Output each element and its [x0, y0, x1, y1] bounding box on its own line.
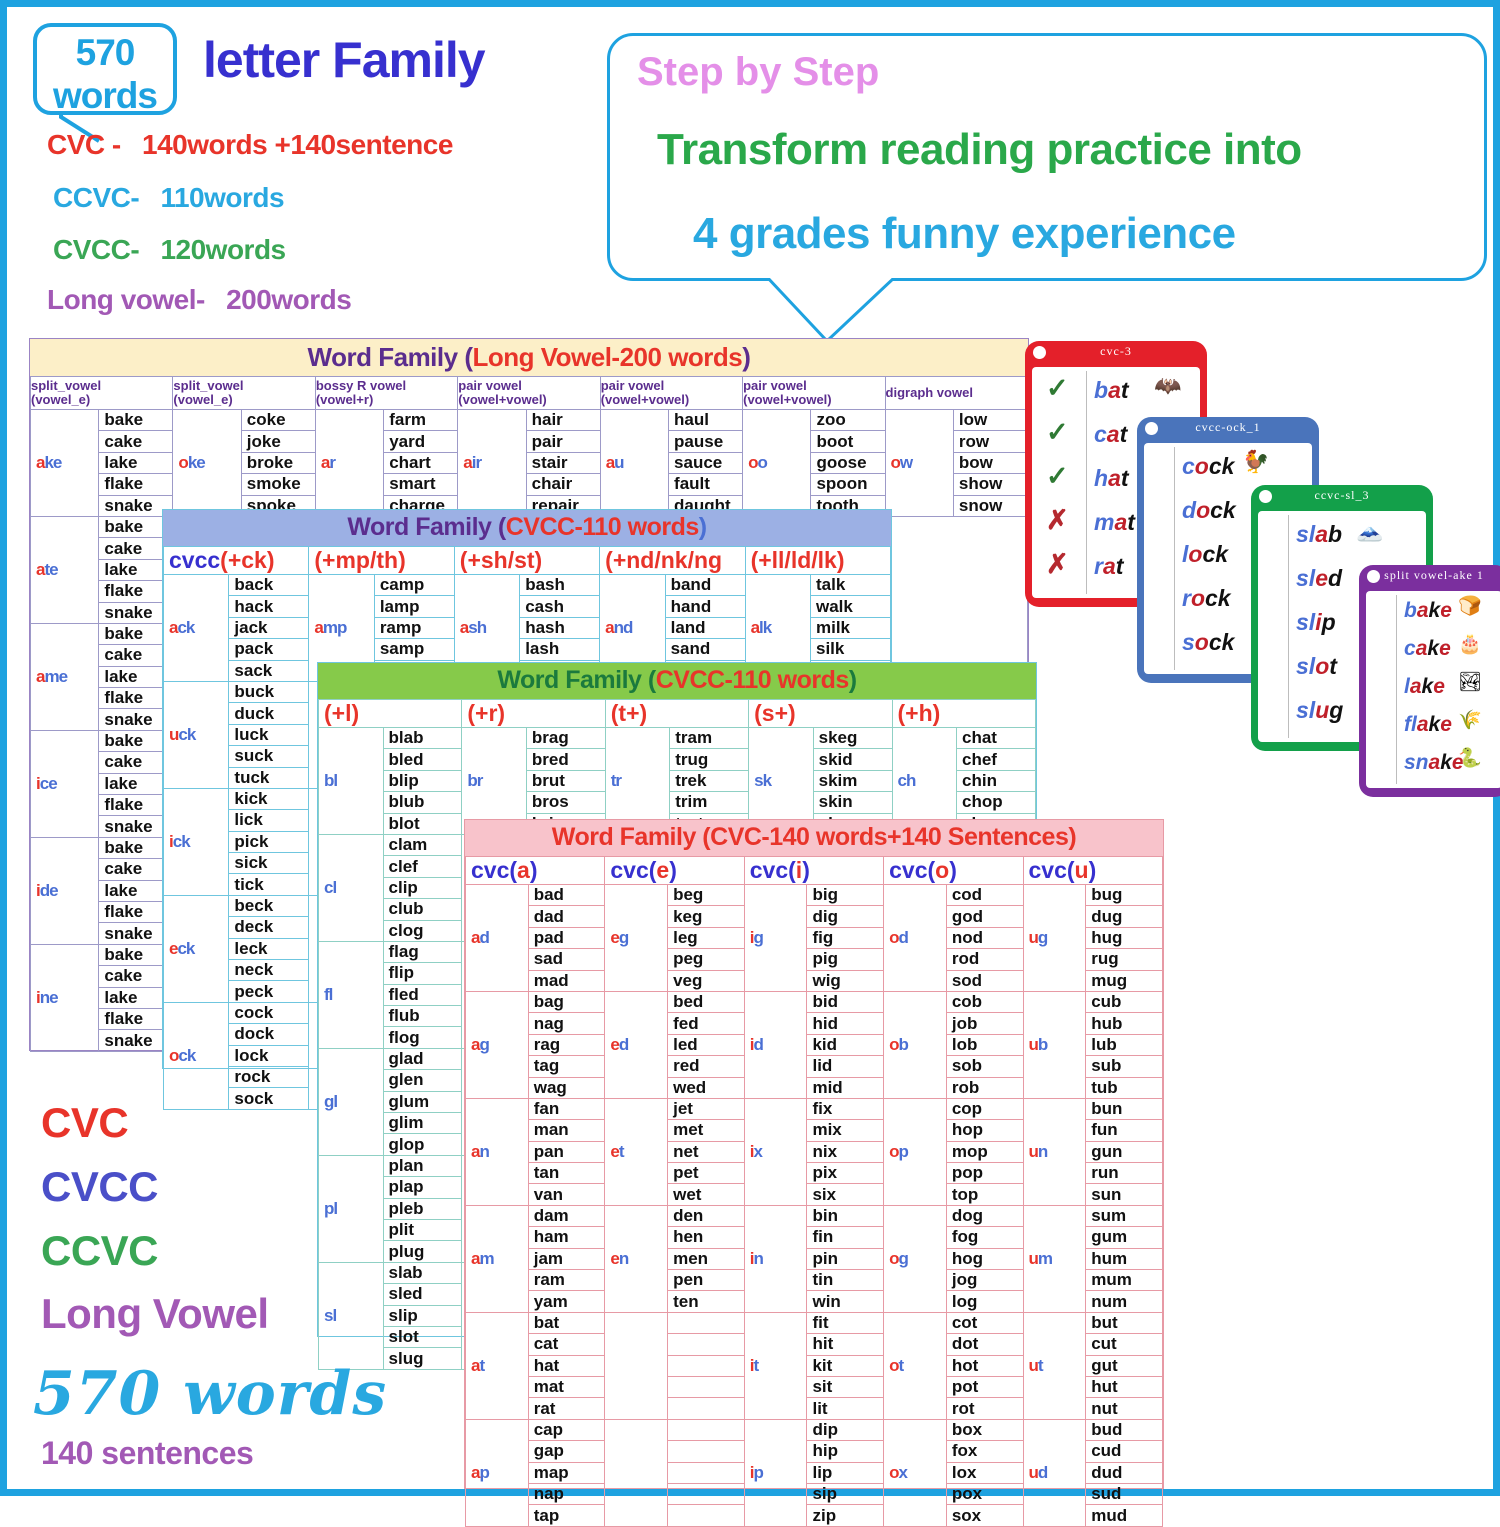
- cvc-grid-word-0-0-4: mad: [528, 970, 605, 991]
- cvc-grid-key-4-5: ud: [1023, 1419, 1086, 1526]
- cvc-grid-word-1-3-2: men: [668, 1248, 745, 1269]
- cvc-grid-word-1-5-4: [668, 1505, 745, 1526]
- cvc-grid-word-2-0-4: wig: [807, 970, 884, 991]
- ccvc-grid-word-0-1-2: clip: [383, 877, 462, 898]
- cvc-grid-word-0-2-2: pan: [528, 1141, 605, 1162]
- cvcc-grid-key-0-2: ick: [164, 788, 229, 895]
- cvc-grid-word-3-2-1: hop: [946, 1120, 1023, 1141]
- cvc-grid-word-1-5-0: [668, 1419, 745, 1440]
- lv-word-col7-4: snow: [953, 495, 1027, 516]
- spec-cvc: CVC - 140words +140sentence: [47, 129, 453, 161]
- cvcc-title-b: CVCC-110 words: [506, 513, 699, 541]
- lv-word-col5-2: sauce: [669, 452, 743, 473]
- cvcc-grid-key-0-1: uck: [164, 681, 229, 788]
- badge-line1: 570: [37, 31, 173, 74]
- spec-cvcc-value: 120words: [160, 234, 285, 265]
- cvc-grid-word-0-5-1: gap: [528, 1441, 605, 1462]
- ccvc-grid-word-3-0-0: skeg: [813, 728, 892, 749]
- cvc-grid-word-2-2-3: pix: [807, 1163, 884, 1184]
- lv-word-col6-1: boot: [811, 431, 885, 452]
- flashcard-split-vowel-ake-1[interactable]: split vowel-ake 1 bake🍞cake🎂lake🏞flake🌾s…: [1359, 565, 1500, 797]
- cvc-grid-key-0-5: ap: [466, 1419, 529, 1526]
- cvcc-grid-word-0-2-2: pick: [229, 831, 309, 852]
- ccvc-grid-word-2-0-3: trim: [670, 792, 749, 813]
- cvc-grid-word-2-2-4: six: [807, 1184, 884, 1205]
- cvc-grid-key-0-1: ag: [466, 991, 529, 1098]
- flashcard-check-mark-icon: ✗: [1046, 549, 1069, 580]
- lv-word-col2-1: joke: [241, 431, 315, 452]
- cvc-grid-word-1-1-1: fed: [668, 1013, 745, 1034]
- table-row: apcapipdipoxboxudbud: [466, 1419, 1163, 1440]
- cvc-grid-word-3-0-2: nod: [946, 927, 1023, 948]
- cvc-grid-word-1-4-1: [668, 1334, 745, 1355]
- cvc-grid-word-4-3-1: gum: [1086, 1227, 1163, 1248]
- table-row: agbagedbedidbidobcobubcub: [466, 991, 1163, 1012]
- cvc-grid-word-2-3-1: fin: [807, 1227, 884, 1248]
- lv-word-col1-0-2: lake: [99, 452, 173, 473]
- bubble-line-2: 4 grades funny experience: [693, 209, 1236, 259]
- lv-key-col1-3: ice: [31, 730, 99, 837]
- cvc-grid-word-4-2-2: gun: [1086, 1141, 1163, 1162]
- cvc-grid-word-3-5-0: box: [946, 1419, 1023, 1440]
- ccvc-grid-key-0-2: fl: [319, 941, 384, 1048]
- cvc-grid-word-1-2-1: met: [668, 1120, 745, 1141]
- cvcc-grid-word-3-0-2: land: [665, 617, 745, 638]
- flashcard-word-row: flake: [1404, 713, 1452, 737]
- lv-word-col4-1: pair: [526, 431, 600, 452]
- cvc-grid-word-1-0-0: beg: [668, 885, 745, 906]
- ccvc-grid-word-4-0-3: chop: [957, 792, 1036, 813]
- cvc-grid-word-2-4-3: sit: [807, 1376, 884, 1397]
- legend-ccvc: CCVC: [41, 1227, 158, 1275]
- lv-word-col2-0: coke: [241, 410, 315, 431]
- cvc-grid-word-2-5-4: zip: [807, 1505, 884, 1526]
- cvcc-grid-word-2-0-1: cash: [520, 596, 600, 617]
- cvc-grid-word-0-4-2: hat: [528, 1355, 605, 1376]
- ccvc-grid-header-1: (+r): [462, 700, 605, 728]
- ccvc-grid-word-0-3-2: glum: [383, 1091, 462, 1112]
- cvc-grid-word-3-1-3: sob: [946, 1056, 1023, 1077]
- lv-key-col4: air: [458, 410, 526, 517]
- cvc-title-a: Word Family (: [552, 823, 710, 851]
- flashcard-word-row: rat: [1094, 553, 1123, 580]
- cvc-grid-word-4-4-1: cut: [1086, 1334, 1163, 1355]
- cvcc-grid-word-2-0-0: bash: [520, 575, 600, 596]
- cvc-grid-word-4-5-1: cud: [1086, 1441, 1163, 1462]
- cvc-grid-key-0-4: at: [466, 1312, 529, 1419]
- flashcard-2-caption: cvcc-ock_1: [1137, 420, 1319, 435]
- cvc-grid-word-3-4-2: hot: [946, 1355, 1023, 1376]
- badge-line2: words: [37, 74, 173, 117]
- spec-long-vowel-key: Long vowel-: [47, 284, 205, 316]
- cvc-grid-word-0-4-3: mat: [528, 1376, 605, 1397]
- spec-ccvc-key: CCVC-: [53, 182, 139, 214]
- cvc-grid-word-1-4-2: [668, 1355, 745, 1376]
- lv-word-col4-0: hair: [526, 410, 600, 431]
- flashcard-divider: [1396, 595, 1397, 784]
- badge-570-words: 570 words: [33, 23, 177, 115]
- cvc-grid-word-3-5-1: fox: [946, 1441, 1023, 1462]
- flashcard-3-caption: ccvc-sl_3: [1251, 488, 1433, 503]
- cvc-grid-word-0-4-1: cat: [528, 1334, 605, 1355]
- lv-word-col1-0-0: bake: [99, 410, 173, 431]
- cvc-grid-word-3-4-0: cot: [946, 1312, 1023, 1333]
- cvc-grid-key-3-2: op: [884, 1098, 947, 1205]
- cvc-grid-word-0-5-4: tap: [528, 1505, 605, 1526]
- cvc-grid-word-1-5-3: [668, 1483, 745, 1504]
- cvc-grid-word-0-3-1: ham: [528, 1227, 605, 1248]
- table-ccvc-green-title: Word Family (CVCC-110 words): [318, 663, 1036, 699]
- cvcc-grid-word-0-4-0: cock: [229, 1002, 309, 1023]
- cvc-grid-word-3-3-1: fog: [946, 1227, 1023, 1248]
- cvcc-grid-word-0-4-3: rock: [229, 1066, 309, 1087]
- ccvc-grid-word-0-1-0: clam: [383, 834, 462, 855]
- cvc-grid-word-3-2-3: pop: [946, 1163, 1023, 1184]
- cvcc-grid-word-0-2-3: sick: [229, 853, 309, 874]
- lv-word-col1-0-3: flake: [99, 474, 173, 495]
- callout-tail-icon: [767, 275, 897, 345]
- cvc-grid-word-0-3-0: dam: [528, 1205, 605, 1226]
- cvc-grid-header-4: cvc(u): [1023, 857, 1163, 885]
- flashcard-word-row: slug: [1296, 697, 1343, 724]
- cvcc-grid-word-0-0-0: back: [229, 575, 309, 596]
- cvcc-grid-header-0: cvcc(+ck): [164, 547, 309, 575]
- cvc-grid-word-4-3-3: mum: [1086, 1270, 1163, 1291]
- ccvc-grid-word-1-0-2: brut: [526, 770, 605, 791]
- cvcc-grid-word-4-0-0: talk: [810, 575, 890, 596]
- cvc-grid-key-4-1: ub: [1023, 991, 1086, 1098]
- cvc-grid-word-3-1-2: lob: [946, 1034, 1023, 1055]
- ccvc-grid-word-0-5-0: slab: [383, 1262, 462, 1283]
- cvc-grid-word-4-5-3: sud: [1086, 1483, 1163, 1504]
- cvcc-grid-word-0-1-4: tuck: [229, 767, 309, 788]
- cvcc-grid-header-1: (+mp/th): [309, 547, 454, 575]
- ccvc-grid-word-0-3-4: glop: [383, 1134, 462, 1155]
- cvc-grid-key-0-2: an: [466, 1098, 529, 1205]
- cvcc-grid-word-0-0-4: sack: [229, 660, 309, 681]
- flashcard-4-body: bake🍞cake🎂lake🏞flake🌾snake🐍: [1366, 591, 1500, 788]
- lv-header-row: split_vowel(vowel_e)split_vowel(vowel_e)…: [31, 377, 1028, 410]
- cvc-grid-word-3-1-1: job: [946, 1013, 1023, 1034]
- flashcard-check-mark-icon: ✓: [1046, 373, 1069, 404]
- ccvc-grid-header-3: (s+): [749, 700, 892, 728]
- ccvc-grid-word-2-0-2: trek: [670, 770, 749, 791]
- cvc-grid-key-2-5: ip: [744, 1419, 807, 1526]
- cvcc-grid-header-2: (+sh/st): [454, 547, 599, 575]
- table-row: atbatitfitotcotutbut: [466, 1312, 1163, 1333]
- cvcc-grid-word-0-0-1: hack: [229, 596, 309, 617]
- cvc-grid-word-2-5-0: dip: [807, 1419, 884, 1440]
- spec-cvc-key: CVC -: [47, 129, 121, 161]
- ccvc-grid-word-0-4-2: pleb: [383, 1198, 462, 1219]
- cvc-grid-word-2-5-1: hip: [807, 1441, 884, 1462]
- ccvc-grid-word-0-1-3: club: [383, 899, 462, 920]
- cvcc-grid-word-0-4-2: lock: [229, 1045, 309, 1066]
- ccvc-title-a: Word Family (: [497, 666, 655, 694]
- cvc-grid-word-2-5-2: lip: [807, 1462, 884, 1483]
- lv-title-a: Word Family (: [308, 342, 473, 372]
- lv-key-col1-1: ate: [31, 516, 99, 623]
- cvc-grid-word-3-4-4: rot: [946, 1398, 1023, 1419]
- cvc-grid-header-1: cvc(e): [605, 857, 744, 885]
- cvcc-grid-word-0-4-4: sock: [229, 1088, 309, 1109]
- ccvc-grid-word-0-0-4: blot: [383, 813, 462, 834]
- cvcc-grid-word-0-1-2: luck: [229, 724, 309, 745]
- cvc-grid-key-2-0: ig: [744, 885, 807, 992]
- cvc-grid-word-2-0-2: fig: [807, 927, 884, 948]
- cvc-grid-word-0-1-0: bag: [528, 991, 605, 1012]
- cvc-grid-word-1-0-3: peg: [668, 949, 745, 970]
- cvcc-grid-word-0-2-1: lick: [229, 810, 309, 831]
- ccvc-grid-header-4: (+h): [892, 700, 1036, 728]
- cvc-grid-header-3: cvc(o): [884, 857, 1023, 885]
- cvcc-grid-word-4-0-2: milk: [810, 617, 890, 638]
- ccvc-grid-word-2-0-0: tram: [670, 728, 749, 749]
- cvc-grid-header-0: cvc(a): [466, 857, 605, 885]
- cvc-grid-word-3-0-4: sod: [946, 970, 1023, 991]
- cvcc-grid-word-0-3-1: deck: [229, 917, 309, 938]
- flashcard-picture-icon: 🐓: [1242, 451, 1269, 473]
- cvc-grid-word-2-5-3: sip: [807, 1483, 884, 1504]
- cvcc-grid-key-0-0: ack: [164, 575, 229, 682]
- cvc-grid-header-2: cvc(i): [744, 857, 883, 885]
- lv-word-col1-0-1: cake: [99, 431, 173, 452]
- cvc-grid-word-3-3-2: hog: [946, 1248, 1023, 1269]
- lv-key-col5: au: [600, 410, 668, 517]
- cvcc-grid-word-0-2-4: tick: [229, 874, 309, 895]
- cvc-grid-word-4-2-0: bun: [1086, 1098, 1163, 1119]
- ccvc-grid-word-0-3-1: glen: [383, 1070, 462, 1091]
- lv-word-col4-2: stair: [526, 452, 600, 473]
- lv-word-col3-2: chart: [384, 452, 458, 473]
- cvc-grid-word-2-1-1: hid: [807, 1013, 884, 1034]
- flashcard-word-row: lake: [1404, 675, 1445, 699]
- flashcard-word-row: hat: [1094, 465, 1129, 492]
- spec-long-vowel: Long vowel- 200words: [47, 284, 351, 316]
- cvc-grid-key-4-2: un: [1023, 1098, 1086, 1205]
- lv-key-col1-0: ake: [31, 410, 99, 517]
- flashcard-picture-icon: 🦇: [1154, 375, 1181, 397]
- cvcc-grid-word-4-0-1: walk: [810, 596, 890, 617]
- cvc-grid-word-1-4-4: [668, 1398, 745, 1419]
- cvc-grid-key-4-3: um: [1023, 1205, 1086, 1312]
- cvc-grid-word-0-2-0: fan: [528, 1098, 605, 1119]
- cvc-grid-word-0-3-2: jam: [528, 1248, 605, 1269]
- flashcard-1-titlebar: cvc-3: [1025, 341, 1207, 364]
- lv-word-col3-3: smart: [384, 474, 458, 495]
- cvc-grid-word-2-1-4: mid: [807, 1077, 884, 1098]
- ccvc-grid-word-0-2-4: flog: [383, 1027, 462, 1048]
- flashcard-2-titlebar: cvcc-ock_1: [1137, 417, 1319, 440]
- table-long-vowel-title: Word Family (Long Vowel-200 words): [30, 339, 1028, 376]
- poster-frame: 570 words letter Family CVC - 140words +…: [0, 0, 1500, 1496]
- cvc-grid-word-2-0-3: pig: [807, 949, 884, 970]
- ccvc-grid-header-2: (t+): [605, 700, 748, 728]
- cvc-grid-word-4-1-1: hub: [1086, 1013, 1163, 1034]
- flashcard-check-mark-icon: ✗: [1046, 505, 1069, 536]
- cvc-grid-word-1-1-4: wed: [668, 1077, 745, 1098]
- cvc-grid-key-0-0: ad: [466, 885, 529, 992]
- cvc-grid-header-row: cvc(a)cvc(e)cvc(i)cvc(o)cvc(u): [466, 857, 1163, 885]
- cvc-grid-word-4-1-3: sub: [1086, 1056, 1163, 1077]
- cvc-grid-key-2-1: id: [744, 991, 807, 1098]
- cvc-grid-key-1-3: en: [605, 1205, 668, 1312]
- cvc-grid-word-4-4-3: hut: [1086, 1376, 1163, 1397]
- flashcard-word-row: rock: [1182, 585, 1231, 612]
- ccvc-grid-key-0-4: pl: [319, 1155, 384, 1262]
- cvc-grid-word-2-1-3: lid: [807, 1056, 884, 1077]
- cvc-grid-word-1-1-3: red: [668, 1056, 745, 1077]
- ccvc-grid-word-0-4-1: plap: [383, 1177, 462, 1198]
- lv-header-0: split_vowel(vowel_e): [31, 377, 173, 410]
- cvc-grid-word-3-3-4: log: [946, 1291, 1023, 1312]
- ccvc-grid-key-0-0: bl: [319, 728, 384, 835]
- ccvc-grid-word-0-4-0: plan: [383, 1155, 462, 1176]
- ccvc-grid-word-4-0-1: chef: [957, 749, 1036, 770]
- flashcard-check-mark-icon: ✓: [1046, 417, 1069, 448]
- flashcard-divider: [1086, 371, 1087, 594]
- cvc-grid-word-0-2-4: van: [528, 1184, 605, 1205]
- cvc-grid-key-1-1: ed: [605, 991, 668, 1098]
- table-row: ackbackampcampashbashandbandalktalk: [164, 575, 891, 596]
- lv-header-1: split_vowel(vowel_e): [173, 377, 315, 410]
- cvc-grid-word-3-5-4: sox: [946, 1505, 1023, 1526]
- spec-cvc-value: 140words +140sentence: [142, 129, 453, 160]
- lv-header-3: pair vowel(vowel+vowel): [458, 377, 600, 410]
- legend-sentences: 140 sentences: [41, 1435, 253, 1472]
- flashcard-word-row: bat: [1094, 377, 1129, 404]
- table-cvcc-blue-title: Word Family (CVCC-110 words): [163, 510, 891, 546]
- cvc-grid-word-4-1-2: lub: [1086, 1034, 1163, 1055]
- cvc-grid-key-3-5: ox: [884, 1419, 947, 1526]
- cvc-grid-word-2-2-2: nix: [807, 1141, 884, 1162]
- cvc-grid-word-0-0-2: pad: [528, 927, 605, 948]
- cvc-grid-word-3-0-0: cod: [946, 885, 1023, 906]
- cvc-grid-word-3-2-0: cop: [946, 1098, 1023, 1119]
- flashcard-check-mark-icon: ✓: [1046, 461, 1069, 492]
- legend-cvcc: CVCC: [41, 1163, 158, 1211]
- cvc-grid-word-4-1-0: cub: [1086, 991, 1163, 1012]
- cvc-grid-key-4-4: ut: [1023, 1312, 1086, 1419]
- cvcc-grid-word-0-1-3: suck: [229, 746, 309, 767]
- cvc-grid-word-0-1-3: tag: [528, 1056, 605, 1077]
- lv-key-col7: ow: [885, 410, 953, 517]
- cvc-grid-word-3-2-2: mop: [946, 1141, 1023, 1162]
- cvcc-grid-word-0-3-3: neck: [229, 960, 309, 981]
- cvc-grid-word-0-5-2: map: [528, 1462, 605, 1483]
- flashcard-picture-icon: 🌾: [1458, 711, 1482, 730]
- cvcc-grid-word-2-0-3: lash: [520, 639, 600, 660]
- cvc-grid-word-2-3-2: pin: [807, 1248, 884, 1269]
- cvc-grid-word-3-4-1: dot: [946, 1334, 1023, 1355]
- cvc-grid-word-0-4-4: rat: [528, 1398, 605, 1419]
- cvc-grid-key-2-2: ix: [744, 1098, 807, 1205]
- cvc-grid-word-4-0-4: mug: [1086, 970, 1163, 991]
- ccvc-grid-word-3-0-2: skim: [813, 770, 892, 791]
- cvcc-grid-word-1-0-1: lamp: [374, 596, 454, 617]
- ccvc-grid-word-0-4-3: plit: [383, 1219, 462, 1240]
- flashcard-word-row: slot: [1296, 653, 1337, 680]
- ccvc-grid-header-row: (+l)(+r)(t+)(s+)(+h): [319, 700, 1036, 728]
- cvc-grid-word-0-2-3: tan: [528, 1163, 605, 1184]
- spec-cvcc-key: CVCC-: [53, 234, 139, 266]
- cvc-grid-word-4-2-3: run: [1086, 1163, 1163, 1184]
- cvc-grid-word-2-3-0: bin: [807, 1205, 884, 1226]
- cvcc-grid-word-0-4-1: dock: [229, 1024, 309, 1045]
- lv-word-col7-0: low: [953, 410, 1027, 431]
- ccvc-grid-word-3-0-3: skin: [813, 792, 892, 813]
- ccvc-grid-word-1-0-0: brag: [526, 728, 605, 749]
- cvcc-grid-word-1-0-0: camp: [374, 575, 454, 596]
- ccvc-grid-word-0-4-4: plug: [383, 1241, 462, 1262]
- cvc-grid-word-1-3-3: pen: [668, 1270, 745, 1291]
- cvc-grid-word-1-2-3: pet: [668, 1163, 745, 1184]
- cvc-grid-word-0-0-1: dad: [528, 906, 605, 927]
- cvc-grid-word-4-2-1: fun: [1086, 1120, 1163, 1141]
- cvc-title-b: CVC-140 words+140 Sentences: [710, 823, 1068, 851]
- ccvc-grid-word-3-0-1: skid: [813, 749, 892, 770]
- lv-word-col5-0: haul: [669, 410, 743, 431]
- ccvc-grid-word-4-0-0: chat: [957, 728, 1036, 749]
- flashcard-word-row: slip: [1296, 609, 1336, 636]
- ccvc-grid-word-0-2-2: fled: [383, 984, 462, 1005]
- flashcard-divider: [1288, 515, 1289, 738]
- table-row: akebakeokecokearfarmairhairauhauloozooow…: [31, 410, 1028, 431]
- flashcard-divider: [1174, 447, 1175, 670]
- table-cvc-pink-title: Word Family (CVC-140 words+140 Sentences…: [465, 820, 1163, 856]
- cvc-grid-word-1-0-2: leg: [668, 927, 745, 948]
- cvc-grid-word-1-3-4: ten: [668, 1291, 745, 1312]
- cvc-grid-word-4-5-0: bud: [1086, 1419, 1163, 1440]
- cvc-grid-word-1-4-0: [668, 1312, 745, 1333]
- cvc-grid-key-3-4: ot: [884, 1312, 947, 1419]
- cvc-grid-word-1-3-1: hen: [668, 1227, 745, 1248]
- bubble-line-1: Transform reading practice into: [657, 125, 1302, 175]
- ccvc-grid-key-0-3: gl: [319, 1048, 384, 1155]
- cvcc-grid-key-0-4: ock: [164, 1002, 229, 1109]
- cvc-grid-word-4-4-4: nut: [1086, 1398, 1163, 1419]
- ccvc-grid-word-4-0-2: chin: [957, 770, 1036, 791]
- lv-word-col2-2: broke: [241, 452, 315, 473]
- lv-word-col7-1: row: [953, 431, 1027, 452]
- lv-word-col5-1: pause: [669, 431, 743, 452]
- lv-key-col1-5: ine: [31, 944, 99, 1051]
- cvc-grid-word-4-3-2: hum: [1086, 1248, 1163, 1269]
- table-row: blblabbrbragtrtramskskegchchat: [319, 728, 1036, 749]
- flashcard-picture-icon: 🎂: [1458, 635, 1482, 654]
- flashcard-word-row: snake: [1404, 751, 1464, 775]
- cvc-grid-word-3-4-3: pot: [946, 1376, 1023, 1397]
- cvcc-title-a: Word Family (: [347, 513, 505, 541]
- cvc-grid-word-2-3-3: tin: [807, 1270, 884, 1291]
- cvc-grid-word-3-0-3: rod: [946, 949, 1023, 970]
- cvcc-title-c: ): [699, 513, 707, 541]
- ccvc-grid-key-0-1: cl: [319, 834, 384, 941]
- lv-word-col7-3: show: [953, 474, 1027, 495]
- cvc-grid-word-3-1-4: rob: [946, 1077, 1023, 1098]
- cvc-grid-word-4-2-4: sun: [1086, 1184, 1163, 1205]
- cvc-grid-word-0-2-1: man: [528, 1120, 605, 1141]
- cvc-grid-key-2-4: it: [744, 1312, 807, 1419]
- spec-ccvc-value: 110words: [160, 182, 284, 213]
- ccvc-grid-word-0-2-0: flag: [383, 941, 462, 962]
- cvc-grid-word-0-1-1: nag: [528, 1013, 605, 1034]
- flashcard-word-row: cake: [1404, 637, 1451, 661]
- cvc-grid-word-3-3-3: jog: [946, 1270, 1023, 1291]
- cvc-grid-word-4-4-2: gut: [1086, 1355, 1163, 1376]
- cvc-grid-word-2-4-0: fit: [807, 1312, 884, 1333]
- cvc-grid-word-4-5-2: dud: [1086, 1462, 1163, 1483]
